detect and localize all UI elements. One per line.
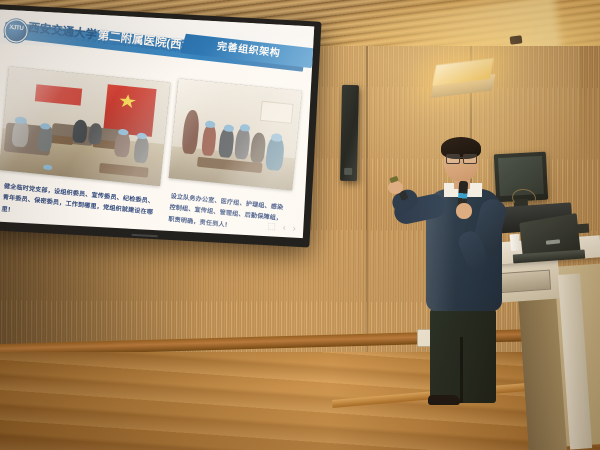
column-loudspeaker-icon — [340, 85, 359, 181]
eyeglasses-icon — [446, 154, 477, 162]
slide-photo-right — [169, 78, 302, 190]
photo-right-glare — [169, 78, 302, 190]
ceiling-spotlight-fixture — [510, 35, 523, 44]
pen-tool-icon[interactable]: ⬚ — [267, 222, 276, 232]
wall-mounted-display[interactable]: XJTU 西安交通大学第二附属医院(西北医院) The Second Affil… — [0, 4, 322, 248]
presenter-right-hand — [456, 203, 472, 219]
slide-photo-left — [0, 66, 170, 186]
photo-left-glare — [0, 66, 170, 186]
display-screen[interactable]: XJTU 西安交通大学第二附属医院(西北医院) The Second Affil… — [0, 9, 314, 238]
presenter — [392, 139, 522, 399]
previous-slide-icon[interactable]: ‹ — [283, 223, 287, 232]
logo-text: XJTU — [6, 24, 28, 32]
presenter-legs — [430, 307, 496, 403]
next-slide-icon[interactable]: › — [293, 224, 297, 233]
presenter-shoe — [428, 395, 460, 405]
small-device-box — [575, 224, 590, 234]
presentation-room-photo: XJTU 西安交通大学第二附属医院(西北医院) The Second Affil… — [0, 0, 600, 450]
slide-caption-left: 健全临时党支部，设组织委员、宣传委员、纪检委员、青年委员、保密委员，工作到哪里，… — [1, 181, 156, 230]
presenter-leg-split — [460, 337, 463, 403]
